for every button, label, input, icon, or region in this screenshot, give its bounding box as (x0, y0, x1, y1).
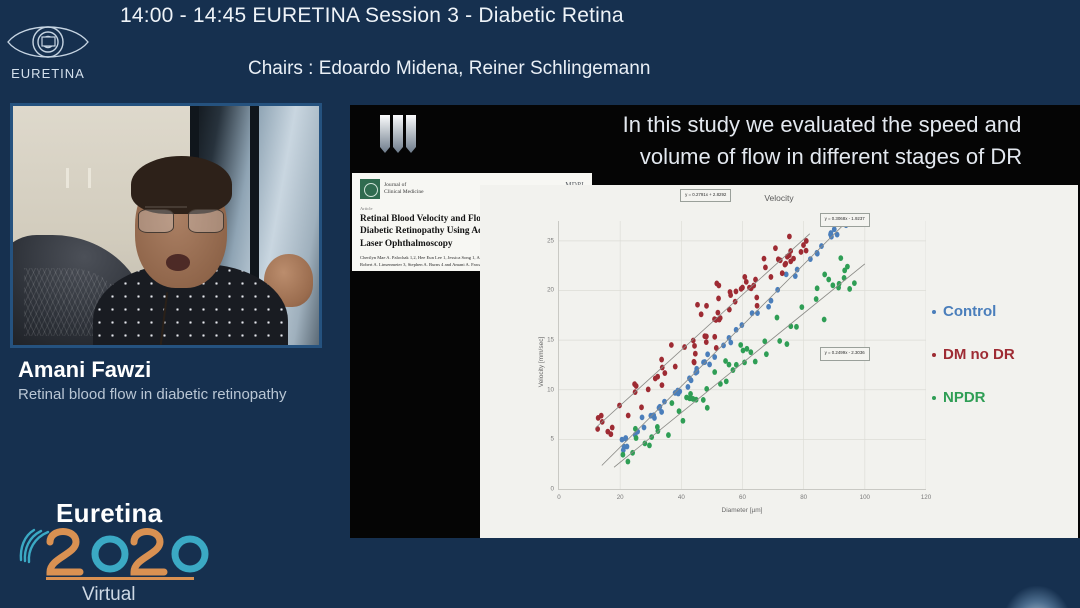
x-axis-tick: 0 (557, 494, 560, 501)
scatter-point (712, 369, 717, 375)
scatter-point (742, 274, 747, 280)
x-axis-tick: 80 (800, 494, 807, 501)
plot-svg (559, 221, 926, 489)
legend-label: DM no DR (943, 346, 1015, 363)
scatter-point (605, 429, 610, 435)
scatter-point (738, 342, 743, 348)
x-axis-tick: 100 (860, 494, 870, 501)
chart-title: Velocity (480, 193, 1078, 203)
regression-equation-box: y = 0.2499x - 2.3036 (820, 347, 870, 361)
scatter-point (727, 335, 732, 341)
scatter-point (727, 307, 732, 313)
x-axis-tick: 120 (921, 494, 931, 501)
scatter-point (783, 262, 788, 268)
scatter-point (704, 303, 709, 309)
speaker-mouth (166, 254, 190, 271)
speaker-video-feed[interactable] (10, 103, 322, 348)
scatter-point (764, 351, 769, 357)
scatter-point (750, 310, 755, 316)
scatter-point (716, 283, 721, 289)
journal-name-line2: Clinical Medicine (384, 189, 424, 196)
y-axis-label: Velocity [mm/sec] (538, 336, 545, 387)
scatter-point (804, 248, 809, 254)
scatter-point (659, 357, 664, 363)
regression-equation-box: y = 0.2791x + 2.8292 (680, 189, 731, 203)
speaker-name: Amani Fawzi (18, 357, 151, 383)
scatter-point (777, 338, 782, 344)
equation-text: y = 0.2499x - 2.3036 (825, 350, 865, 357)
scatter-point (712, 334, 717, 340)
scatter-point (788, 258, 793, 264)
scatter-point (815, 285, 820, 291)
scatter-point (769, 274, 774, 280)
brand-subtitle: Virtual (82, 584, 136, 606)
brand-year-2020 (42, 524, 212, 576)
x-axis-tick: 60 (739, 494, 746, 501)
scatter-point (646, 387, 651, 393)
regression-line (614, 264, 865, 467)
scatter-point (716, 296, 721, 302)
scatter-point (669, 400, 674, 406)
equation-text: y = 0.3068x - 1.9237 (825, 216, 865, 223)
y-axis-tick: 15 (547, 337, 554, 344)
slide-title-line2: volume of flow in different stages of DR (530, 141, 1080, 173)
scatter-point (847, 286, 852, 292)
legend-marker-icon (932, 310, 936, 314)
scatter-point (640, 414, 645, 420)
session-time-title: 14:00 - 14:45 EURETINA Session 3 - Diabe… (120, 4, 740, 28)
scatter-point (660, 382, 665, 388)
legend-marker-icon (932, 353, 936, 357)
scatter-point (623, 436, 628, 442)
scatter-point (830, 282, 835, 288)
journal-name-line1: Journal of (384, 182, 424, 189)
slide-title-line1: In this study we evaluated the speed and (512, 109, 1080, 141)
scatter-point (704, 339, 709, 345)
scatter-point (704, 334, 709, 340)
scatter-point (724, 378, 729, 384)
scatter-point (780, 270, 785, 276)
slide-title: In this study we evaluated the speed and… (512, 109, 1080, 173)
plot-area: 0510152025020406080100120y = 0.3068x - 1… (558, 221, 926, 490)
scatter-point (692, 343, 697, 349)
scatter-point (701, 397, 706, 403)
scatter-point (775, 315, 780, 321)
scatter-point (754, 295, 759, 301)
scatter-point (740, 285, 745, 291)
legend-item: DM no DR (932, 346, 1070, 363)
scatter-point (705, 351, 710, 357)
y-axis-tick: 5 (551, 436, 554, 443)
legend-item: NPDR (932, 389, 1070, 406)
scatter-point (832, 226, 837, 232)
x-axis-tick: 20 (617, 494, 624, 501)
legend-item: Control (932, 303, 1070, 320)
scatter-point (799, 249, 804, 255)
euretina-eye-logo: EURETINA (4, 12, 92, 86)
scatter-point (766, 304, 771, 310)
corner-light-glow (1002, 586, 1072, 608)
scatter-point (662, 370, 667, 376)
scatter-point (599, 413, 604, 419)
scatter-point (693, 351, 698, 357)
session-header: EURETINA 14:00 - 14:45 EURETINA Session … (0, 0, 1080, 96)
scatter-point (741, 348, 746, 354)
scatter-point (686, 384, 691, 390)
equation-text: y = 0.2791x + 2.8292 (685, 192, 726, 199)
scatter-point (755, 303, 760, 309)
scatter-point (728, 292, 733, 298)
scatter-point (715, 310, 720, 316)
scatter-point (838, 255, 843, 261)
scatter-point (625, 444, 630, 450)
scatter-point (763, 264, 768, 270)
scatter-point (634, 435, 639, 441)
euretina-2020-virtual-logo: Euretina Virtual (10, 498, 240, 608)
y-axis-tick: 25 (547, 237, 554, 244)
scatter-point (621, 452, 626, 458)
scatter-point (799, 304, 804, 310)
y-axis-tick: 0 (551, 486, 554, 493)
scatter-point (801, 242, 806, 248)
scatter-point (814, 296, 819, 302)
scatter-point (681, 418, 686, 424)
scatter-point (634, 383, 639, 389)
x-axis-tick: 40 (678, 494, 685, 501)
chart-legend: ControlDM no DRNPDR (932, 303, 1070, 432)
scatter-point (815, 251, 820, 257)
scatter-point (822, 317, 827, 323)
scatter-point (753, 359, 758, 365)
velocity-scatter-chart: Velocity Velocity [mm/sec] Diameter [µm]… (480, 185, 1078, 538)
x-axis-label: Diameter [µm] (558, 507, 926, 514)
open-book-icon (376, 113, 420, 159)
regression-line (602, 221, 865, 465)
legend-marker-icon (932, 396, 936, 400)
y-axis-tick: 20 (547, 287, 554, 294)
speaker-glasses (138, 209, 224, 233)
scatter-point (739, 322, 744, 328)
scatter-point (762, 256, 767, 262)
scatter-point (822, 272, 827, 278)
glasses-bridge (145, 206, 188, 208)
scatter-point (639, 404, 644, 410)
scatter-point (755, 310, 760, 316)
legend-label: Control (943, 303, 996, 320)
scatter-point (785, 341, 790, 347)
scatter-point (655, 424, 660, 430)
scatter-point (669, 342, 674, 348)
scatter-point (707, 362, 712, 368)
scatter-point (688, 391, 693, 397)
scatter-point (842, 275, 847, 281)
euretina-wordmark: EURETINA (11, 66, 85, 81)
journal-name: Journal of Clinical Medicine (384, 182, 424, 197)
scatter-point (610, 425, 615, 431)
scatter-point (705, 405, 710, 411)
scatter-point (695, 302, 700, 308)
scatter-point (845, 264, 850, 270)
scatter-point (826, 277, 831, 283)
scatter-point (699, 311, 704, 317)
scatter-point (734, 289, 739, 295)
scatter-point (852, 280, 857, 286)
presentation-slide[interactable]: In this study we evaluated the speed and… (350, 105, 1080, 538)
scatter-point (626, 459, 631, 465)
scatter-point (652, 415, 657, 421)
scatter-point (647, 442, 652, 448)
scatter-point (692, 359, 697, 365)
session-chairs: Chairs : Edoardo Midena, Reiner Schlinge… (248, 58, 948, 80)
scatter-point (794, 324, 799, 330)
speaker-talk-title: Retinal blood flow in diabetic retinopat… (18, 385, 318, 406)
regression-equation-box: y = 0.3068x - 1.9237 (820, 213, 870, 227)
legend-label: NPDR (943, 389, 986, 406)
scatter-point (691, 396, 696, 402)
scatter-point (723, 358, 728, 364)
scatter-point (673, 364, 678, 370)
scatter-point (666, 432, 671, 438)
scatter-point (773, 245, 778, 251)
y-axis-tick: 10 (547, 386, 554, 393)
scatter-point (784, 271, 789, 277)
scatter-point (626, 413, 631, 419)
scatter-point (655, 374, 660, 380)
scatter-point (787, 234, 792, 240)
speaker-hair (131, 156, 232, 213)
scatter-point (748, 349, 753, 355)
journal-emblem-icon (360, 179, 380, 199)
